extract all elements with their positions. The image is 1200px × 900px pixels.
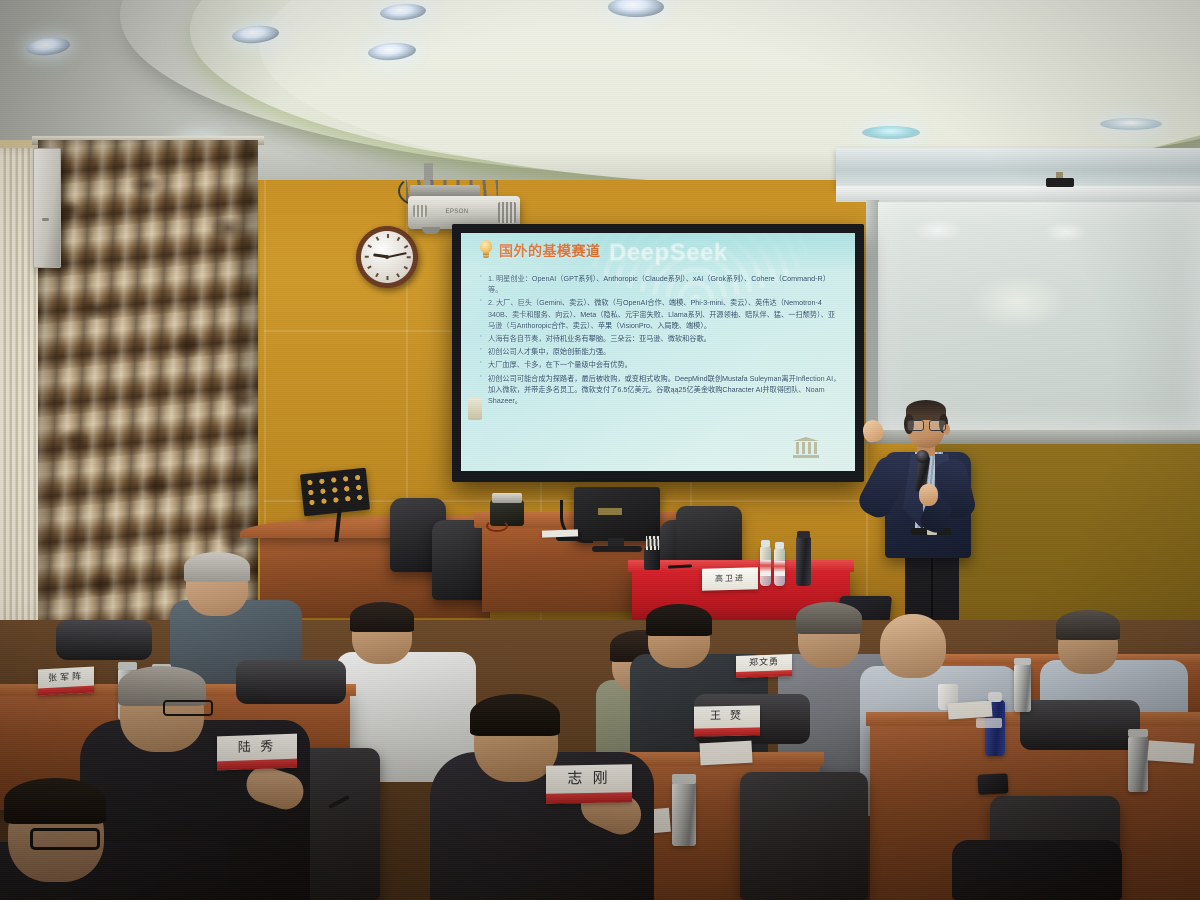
- slide-title: 国外的基模赛道: [499, 241, 729, 261]
- downlight-icon: [862, 126, 920, 139]
- vacuum-flask-cap: [672, 774, 696, 784]
- attendee-dark-shirt-hair: [646, 604, 712, 636]
- bottle-cap: [761, 540, 770, 547]
- attendee-bald-striped-head: [880, 614, 946, 678]
- head-table-nameplate: 高卫进: [702, 567, 758, 590]
- office-chair[interactable]: [236, 660, 346, 704]
- wall-clock: [356, 226, 418, 288]
- projection-screen[interactable]: DeepSeek 国外的基模赛道 1. 明星创业：OpenAI（GPT系列）、A…: [461, 233, 855, 471]
- handout-paper: [699, 741, 752, 766]
- whiteboard-header-valance: [836, 148, 1200, 188]
- attendee-grey-suit-hair: [796, 602, 862, 634]
- handout-paper: [947, 700, 992, 719]
- slide-bullet: 人海有各自节奏，对待机业务有攀脑。三朵云：亚马逊、微软和谷歌。: [475, 333, 841, 344]
- vacuum-flask: [1014, 664, 1031, 712]
- monitor-sticker: [598, 508, 622, 515]
- nameplate-wangxi: 王 燹: [694, 705, 760, 736]
- clock-minute-hand: [387, 252, 406, 258]
- nameplate-luxiu: 陆 秀: [217, 734, 297, 771]
- presenter-hand-right: [919, 484, 938, 506]
- attendee-white-shirt-hair: [350, 602, 414, 632]
- monitor-base: [592, 546, 642, 552]
- music-stand-perforations: [303, 471, 366, 513]
- office-chair[interactable]: [740, 772, 868, 900]
- presenter-hand-left: [861, 418, 885, 444]
- vacuum-flask-cap: [1014, 658, 1031, 665]
- vacuum-flask-cap: [797, 531, 810, 538]
- lightbulb-icon: [479, 240, 493, 260]
- screen-corner-tag: [468, 398, 482, 420]
- vacuum-flask: [672, 782, 696, 846]
- av-equipment-lid: [492, 493, 522, 503]
- nameplate-zhang: 张军阵: [38, 667, 94, 696]
- power-cable: [486, 520, 508, 532]
- attendee-back-grey-polo-hair: [184, 552, 250, 582]
- handout-paper: [1147, 740, 1194, 763]
- slide-bullet: 1. 明星创业：OpenAI（GPT系列）、Anthoropic（Claude系…: [475, 273, 841, 295]
- whiteboard-glare: [878, 202, 1200, 430]
- nameplate-zhigang-text: 志 刚: [546, 764, 632, 793]
- glasses-icon: [163, 700, 213, 716]
- projector-vent: [413, 205, 427, 217]
- slide-bullet: 初创公司可能合成为探路者，最后被收购，或变相式收购。DeepMind联创Must…: [475, 373, 841, 407]
- bottle-cap: [775, 542, 784, 549]
- nameplate-zhang-text: 张军阵: [38, 667, 94, 688]
- pen-cup: [644, 548, 660, 570]
- institution-seal-icon: [793, 433, 819, 459]
- nameplate-wangxi-text: 王 燹: [694, 705, 760, 727]
- slide-bullet: 初创公司人才集中，原始创新能力强。: [475, 346, 841, 357]
- nameplate-zhigang: 志 刚: [546, 764, 632, 804]
- attendee-blue-shirt-hair: [1056, 610, 1120, 640]
- whiteboard-valance-lower: [836, 186, 1200, 202]
- attendee-right-foreground-body: [952, 840, 1122, 900]
- vacuum-flask: [1128, 736, 1148, 792]
- vacuum-flask-cap: [118, 662, 137, 670]
- handout-paper: [542, 529, 578, 537]
- pens-in-cup: [646, 536, 659, 550]
- slide-bullet-list: 1. 明星创业：OpenAI（GPT系列）、Anthoropic（Claude系…: [475, 273, 841, 408]
- vacuum-flask: [796, 536, 811, 586]
- ceiling-camera-icon: [1046, 178, 1074, 187]
- clock-center-pin: [385, 255, 389, 259]
- nameplate-zhengwenyong: 郑文勇: [736, 654, 792, 678]
- nameplate-zhengwenyong-text: 郑文勇: [736, 654, 792, 671]
- projector-vent: [498, 202, 516, 223]
- nameplate-luxiu-text: 陆 秀: [217, 734, 297, 761]
- vacuum-flask-cap: [1128, 729, 1148, 737]
- clock-face: [361, 231, 413, 283]
- conference-room-photo: EPSON DeepSeek 国外的基模赛道 1. 明星创业：OpenAI（GP…: [0, 0, 1200, 900]
- bottle-label: [760, 560, 771, 576]
- slide-bullet: 大厂血厚、卡多，在下一个量级中会有优势。: [475, 359, 841, 370]
- lightbulb-base: [483, 252, 489, 258]
- downlight-icon: [1100, 118, 1162, 130]
- head-table-nameplate-text: 高卫进: [702, 567, 758, 590]
- glasses-icon: [30, 828, 100, 850]
- office-chair[interactable]: [1020, 700, 1140, 750]
- slide-bullet: 2. 大厂、巨头（Gemini、卖云）、微软（与OpenAI合作、端模、Phi-…: [475, 297, 841, 331]
- projector-brand-label: EPSON: [444, 208, 470, 216]
- speaker-led-icon: [42, 218, 49, 221]
- glasses-icon: [907, 420, 946, 429]
- wall-speaker: [33, 148, 61, 268]
- bottle-label: [774, 561, 785, 576]
- projector-lens: [422, 227, 440, 234]
- attendee-front-center-hair: [470, 694, 560, 736]
- bottle-label: [976, 718, 1002, 728]
- office-chair[interactable]: [56, 620, 152, 660]
- attendee-glasses-foreground-hair: [4, 778, 106, 824]
- smartphone[interactable]: [977, 773, 1008, 795]
